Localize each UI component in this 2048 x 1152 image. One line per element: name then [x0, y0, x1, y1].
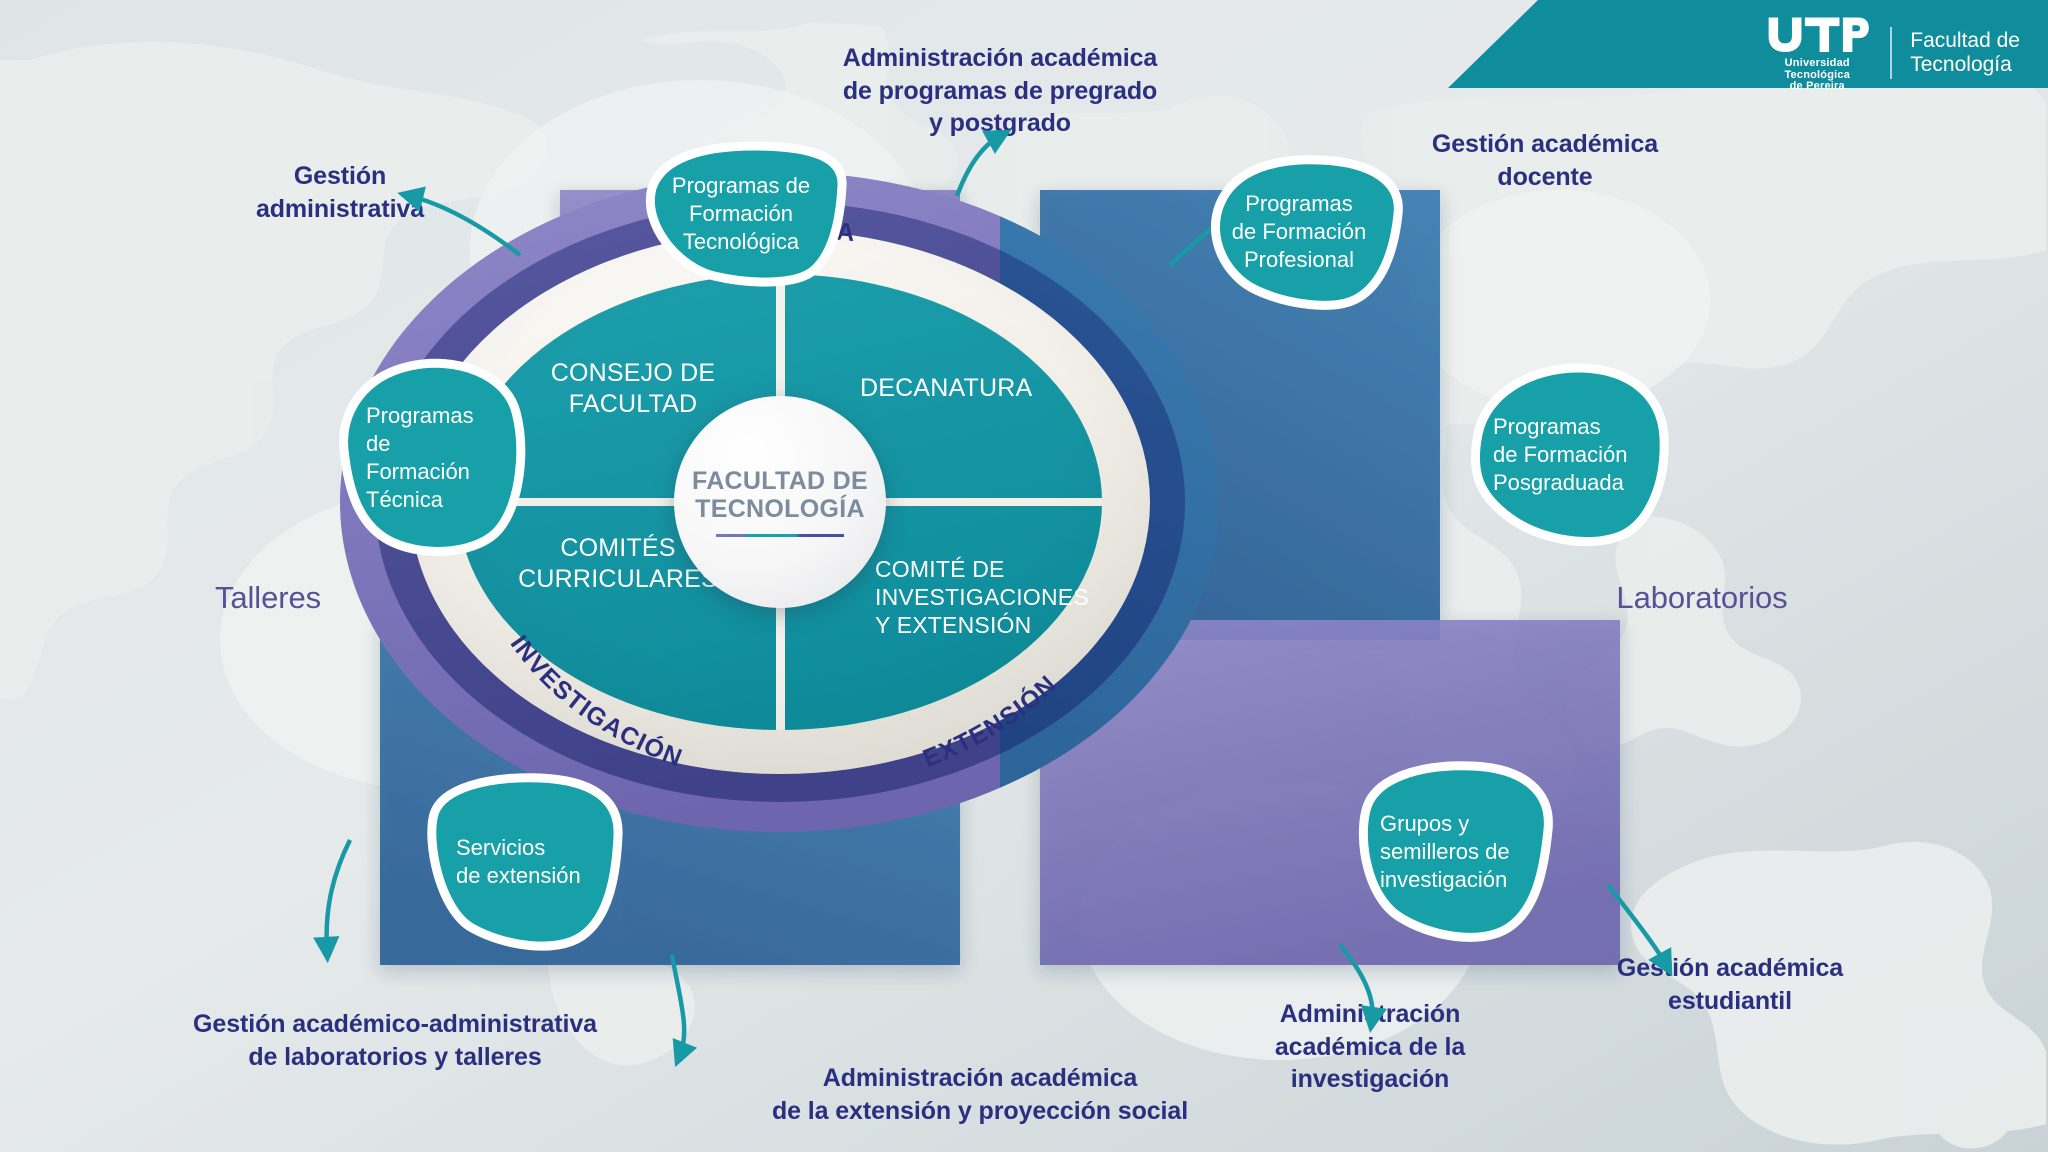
center-hub: FACULTAD DE TECNOLOGÍA [674, 396, 886, 608]
label-line-2: docente [1380, 161, 1710, 194]
badge-programas-de-formacion-tecnica[interactable]: Programas de Formación Técnica [330, 358, 540, 558]
badge-line-3: Posgraduada [1493, 469, 1647, 497]
label-line-2: académica de la [1220, 1031, 1520, 1064]
outer-label-administracion-academica-extension-proyeccion-social: Administración académica de la extensión… [700, 1062, 1260, 1127]
utp-logo-mark: Universidad Tecnológica de Pereira [1762, 14, 1872, 93]
quadrant-line-2: FACULTAD [528, 389, 738, 420]
quadrant-line-2: INVESTIGACIONES [875, 583, 1135, 611]
outer-label-talleres: Talleres [178, 578, 358, 618]
badge-servicios-de-extension[interactable]: Servicios de extensión [418, 770, 634, 954]
quadrant-label-consejo-de-facultad: CONSEJO DE FACULTAD [528, 358, 738, 419]
infographic-canvas: DOCENCIA INVESTIGACIÓN EXTENSIÓN CONSEJO… [0, 0, 2048, 1152]
quadrant-line-3: Y EXTENSIÓN [875, 611, 1135, 639]
badge-text: Servicios de extensión [450, 834, 602, 890]
label-line-1: Gestión académica [1380, 128, 1710, 161]
badge-line-2: de extensión [456, 862, 596, 890]
badge-line-1: Programas [366, 402, 504, 430]
badge-line-1: Servicios [456, 834, 596, 862]
outer-label-gestion-academico-administrativa-laboratorios-talleres: Gestión académico-administrativa de labo… [140, 1008, 650, 1073]
badge-programas-de-formacion-posgraduada[interactable]: Programas de Formación Posgraduada [1460, 360, 1680, 550]
utp-logo-banner: Universidad Tecnológica de Pereira Facul… [1448, 0, 2048, 88]
label-line-1: Administración [1220, 998, 1520, 1031]
label-line-1: Administración académica [700, 1062, 1260, 1095]
badge-line-3: Profesional [1232, 246, 1367, 274]
label-line-2: de programas de pregrado [790, 75, 1210, 108]
label-line-3: y postgrado [790, 107, 1210, 140]
faculty-name: Facultad de Tecnología [1910, 29, 2020, 78]
label-line-2: estudiantil [1560, 985, 1900, 1018]
quadrant-line-1: DECANATURA [860, 373, 1140, 404]
utp-subtitle: Universidad Tecnológica de Pereira [1762, 58, 1872, 93]
quadrant-line-1: CONSEJO DE [528, 358, 738, 389]
badge-line-4: Técnica [366, 486, 504, 514]
label-line-1: Gestión académico-administrativa [140, 1008, 650, 1041]
badge-line-1: Grupos y [1380, 810, 1532, 838]
label-line-2: de la extensión y proyección social [700, 1095, 1260, 1128]
quadrant-line-1: COMITÉ DE [875, 555, 1135, 583]
label-line-3: investigación [1220, 1063, 1520, 1096]
outer-label-gestion-academica-estudiantil: Gestión académica estudiantil [1560, 952, 1900, 1017]
label-line-1: Laboratorios [1572, 578, 1832, 618]
utp-subtitle-line-1: Universidad Tecnológica [1762, 58, 1872, 81]
badge-programas-de-formacion-profesional[interactable]: Programas de Formación Profesional [1186, 152, 1412, 312]
outer-label-gestion-academica-docente: Gestión académica docente [1380, 128, 1710, 193]
label-line-1: Gestión [190, 160, 490, 193]
hub-divider-rule [716, 534, 844, 537]
label-line-1: Administración académica [790, 42, 1210, 75]
outer-label-laboratorios: Laboratorios [1572, 578, 1832, 618]
badge-grupos-y-semilleros-de-investigacion[interactable]: Grupos y semilleros de investigación [1348, 758, 1564, 946]
badge-text: Programas de Formación Posgraduada [1487, 413, 1653, 497]
badge-programas-de-formacion-tecnologica[interactable]: Programas de Formación Tecnológica [628, 140, 854, 288]
badge-line-3: Formación [366, 458, 504, 486]
badge-line-1: Programas [1232, 190, 1367, 218]
hub-title-line-2: TECNOLOGÍA [692, 495, 868, 523]
badge-text: Programas de Formación Profesional [1226, 190, 1373, 274]
quadrant-label-decanatura: DECANATURA [860, 373, 1140, 404]
label-line-1: Talleres [178, 578, 358, 618]
hub-title: FACULTAD DE TECNOLOGÍA [692, 467, 868, 524]
badge-line-2: Formación [672, 200, 810, 228]
utp-wordmark-icon [1765, 14, 1869, 52]
logo-divider [1890, 27, 1892, 79]
badge-line-2: semilleros de [1380, 838, 1532, 866]
badge-line-3: Tecnológica [672, 228, 810, 256]
badge-line-2: de Formación [1232, 218, 1367, 246]
badge-line-1: Programas de [672, 172, 810, 200]
label-line-2: administrativa [190, 193, 490, 226]
faculty-line-1: Facultad de [1910, 29, 2020, 53]
hub-title-line-1: FACULTAD DE [692, 467, 868, 495]
badge-line-3: investigación [1380, 866, 1532, 894]
label-line-2: de laboratorios y talleres [140, 1041, 650, 1074]
badge-line-2: de [366, 430, 504, 458]
badge-text: Programas de Formación Técnica [360, 402, 510, 514]
quadrant-label-comite-de-investigaciones-y-extension: COMITÉ DE INVESTIGACIONES Y EXTENSIÓN [875, 555, 1135, 639]
utp-subtitle-line-2: de Pereira [1762, 81, 1872, 93]
outer-label-gestion-administrativa: Gestión administrativa [190, 160, 490, 225]
badge-text: Programas de Formación Tecnológica [666, 172, 816, 256]
label-line-1: Gestión académica [1560, 952, 1900, 985]
outer-label-administracion-academica-pregrado-postgrado: Administración académica de programas de… [790, 42, 1210, 140]
outer-label-administracion-academica-investigacion: Administración académica de la investiga… [1220, 998, 1520, 1096]
badge-text: Grupos y semilleros de investigación [1374, 810, 1538, 894]
badge-line-2: de Formación [1493, 441, 1647, 469]
badge-line-1: Programas [1493, 413, 1647, 441]
faculty-line-2: Tecnología [1910, 53, 2020, 77]
